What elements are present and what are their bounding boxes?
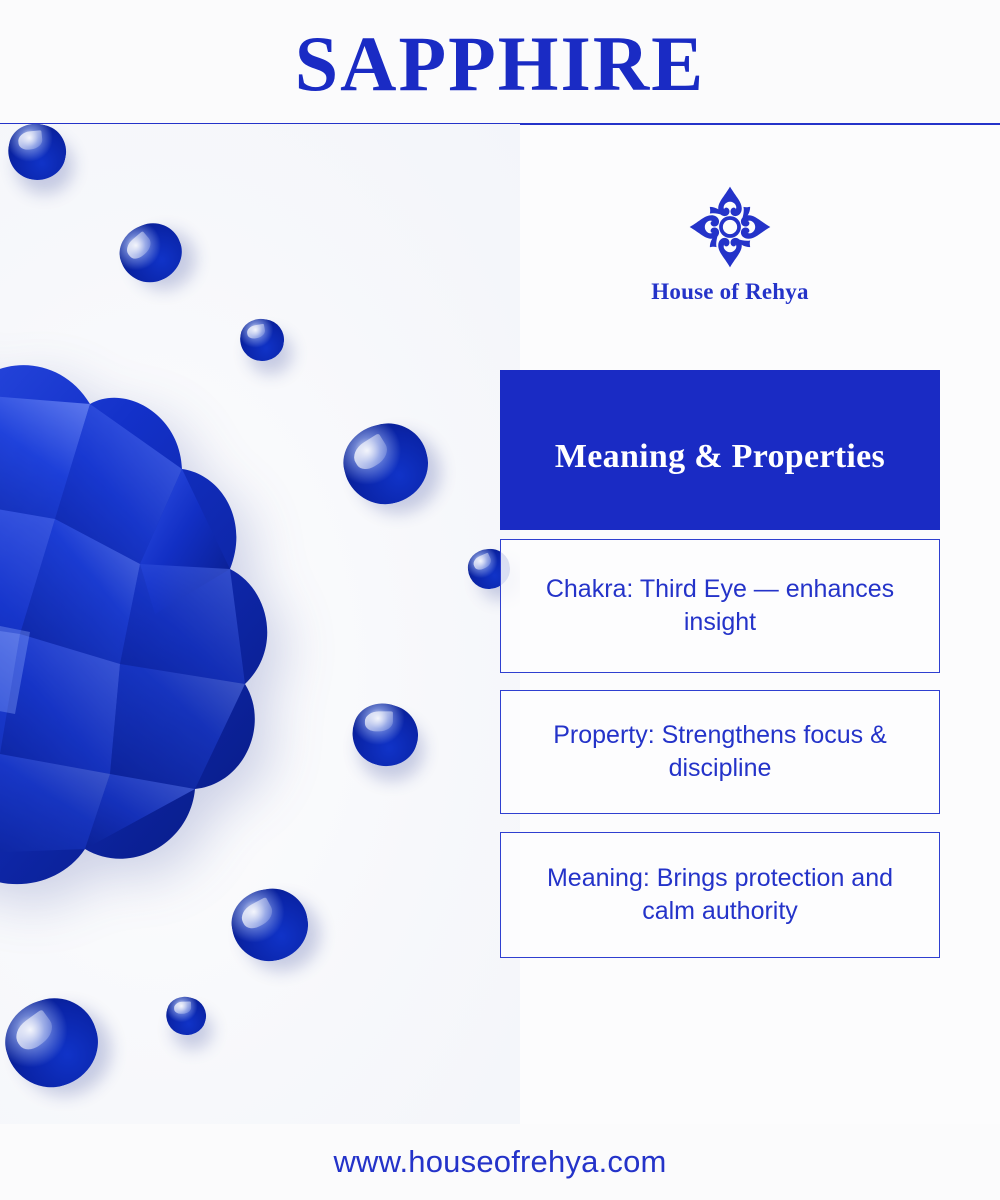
brand-name: House of Rehya <box>520 279 940 305</box>
website-url[interactable]: www.houseofrehya.com <box>333 1144 666 1180</box>
sapphire-stone-small <box>3 124 71 185</box>
page-footer: www.houseofrehya.com <box>0 1124 1000 1200</box>
info-box-property-text: Property: Strengthens focus & discipline <box>523 719 917 786</box>
page-header: SAPPHIRE <box>0 0 1000 123</box>
large-sapphire-cluster-icon <box>0 284 310 904</box>
info-box-chakra: Chakra: Third Eye — enhances insight <box>500 539 940 673</box>
page-title: SAPPHIRE <box>295 25 705 103</box>
sapphire-stone-small <box>0 987 109 1099</box>
sapphire-stone-small <box>162 992 211 1040</box>
brand-logo: House of Rehya <box>520 185 940 305</box>
info-box-meaning: Meaning: Brings protection and calm auth… <box>500 832 940 958</box>
sapphire-stone-small <box>344 695 426 774</box>
quatrefoil-medallion-icon <box>688 185 772 269</box>
info-box-meaning-text: Meaning: Brings protection and calm auth… <box>523 862 917 929</box>
section-banner: Meaning & Properties <box>500 370 940 530</box>
sapphire-stone-small <box>111 214 190 291</box>
info-box-chakra-text: Chakra: Third Eye — enhances insight <box>523 573 917 640</box>
gemstone-photo <box>0 124 520 1124</box>
sapphire-stone-small <box>336 415 437 513</box>
sapphire-infographic: SAPPHIRE <box>0 0 1000 1200</box>
section-banner-label: Meaning & Properties <box>555 438 885 476</box>
info-box-property: Property: Strengthens focus & discipline <box>500 690 940 814</box>
